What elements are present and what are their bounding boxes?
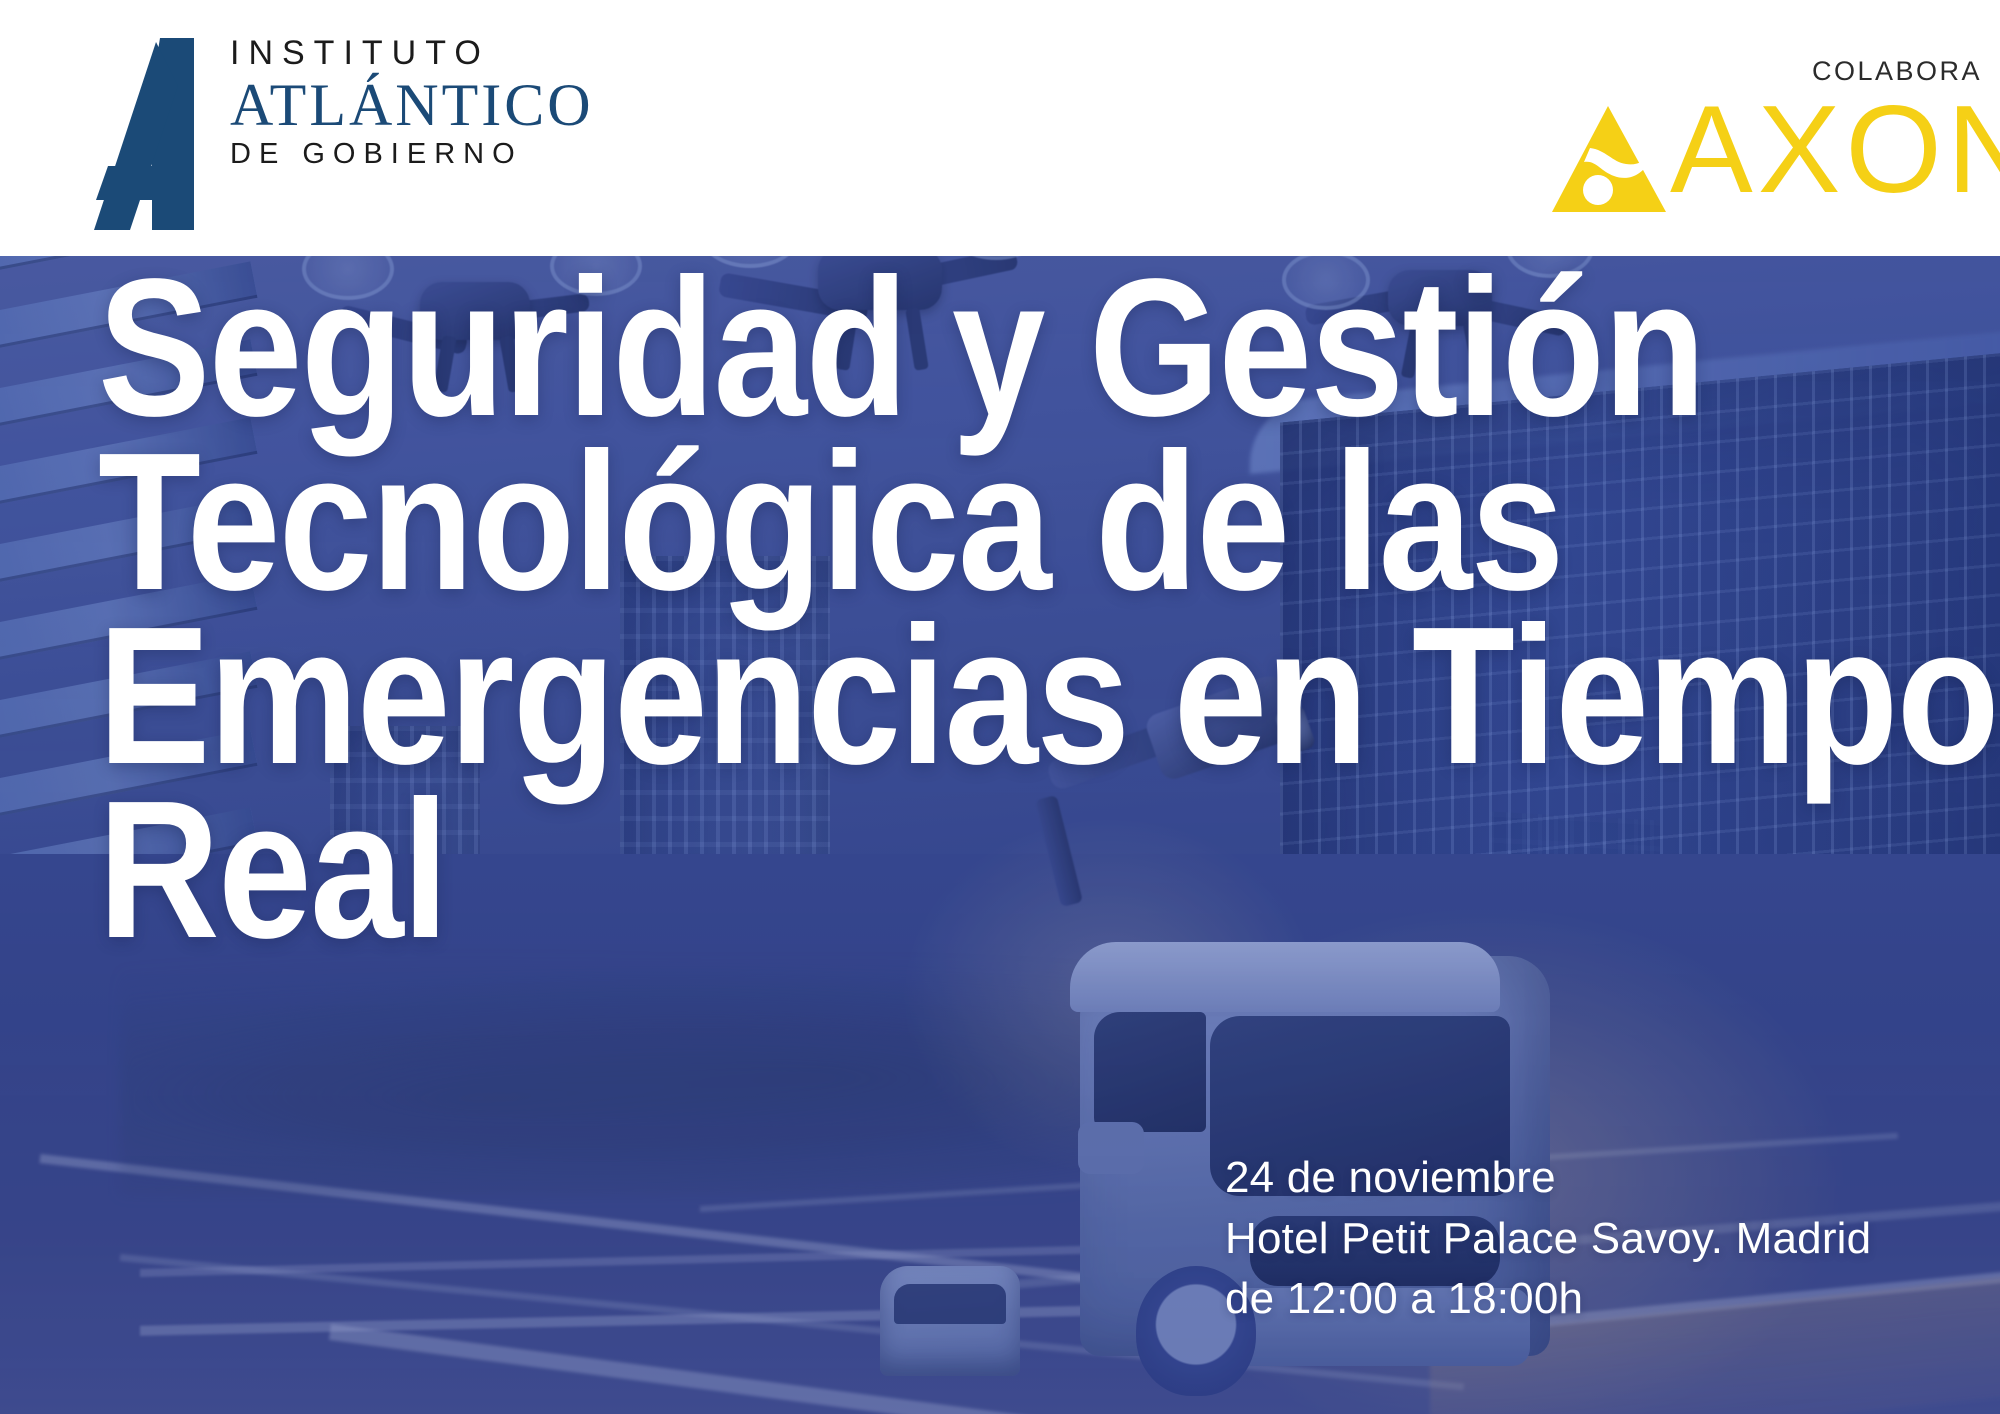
atlantico-a-mark-icon bbox=[90, 34, 250, 234]
event-poster: Seguridad y Gestión Tecnológica de las E… bbox=[0, 0, 2000, 1414]
organizer-wordmark: INSTITUTO ATLÁNTICO DE GOBIERNO bbox=[230, 36, 580, 171]
event-date: 24 de noviembre bbox=[1225, 1148, 1871, 1209]
event-schedule: de 12:00 a 18:00h bbox=[1225, 1269, 1871, 1330]
headline-line-4: Real bbox=[98, 776, 1577, 964]
collaborator-block: COLABORA AXON bbox=[1540, 56, 2000, 246]
event-venue: Hotel Petit Palace Savoy. Madrid bbox=[1225, 1209, 1871, 1270]
axon-wordmark: AXON bbox=[1670, 88, 2000, 212]
organizer-logo: INSTITUTO ATLÁNTICO DE GOBIERNO bbox=[90, 18, 570, 238]
organizer-line-3: DE GOBIERNO bbox=[230, 139, 580, 171]
axon-logo: AXON bbox=[1540, 100, 2000, 230]
page-title: Seguridad y Gestión Tecnológica de las E… bbox=[98, 254, 1818, 951]
header-bar: INSTITUTO ATLÁNTICO DE GOBIERNO COLABORA… bbox=[0, 0, 2000, 256]
organizer-line-2: ATLÁNTICO bbox=[230, 72, 580, 139]
event-details: 24 de noviembre Hotel Petit Palace Savoy… bbox=[1225, 1148, 1871, 1330]
organizer-line-1: INSTITUTO bbox=[230, 36, 580, 72]
axon-triangle-mark-icon bbox=[1550, 104, 1670, 214]
